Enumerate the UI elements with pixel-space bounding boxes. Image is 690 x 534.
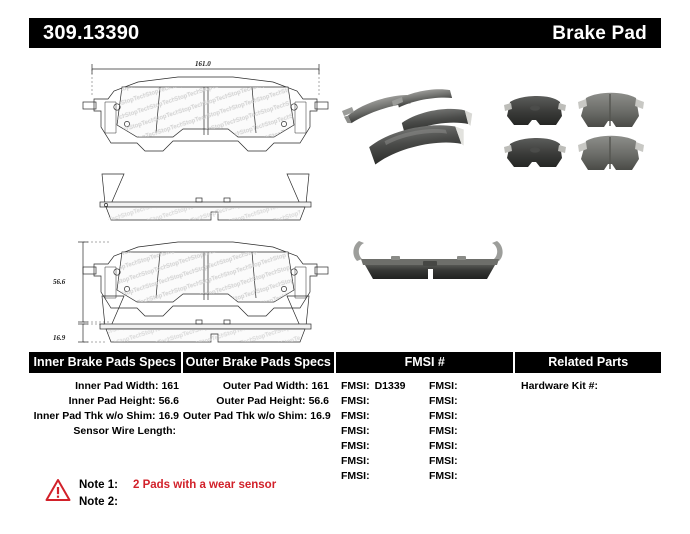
spec-table: Inner Brake Pads Specs Outer Brake Pads … [29, 352, 661, 473]
dimension-thickness-label: 16.9 [53, 334, 66, 342]
spec-row: Outer Pad Height:56.6 [183, 394, 335, 409]
fmsi-label: FMSI: [429, 440, 458, 452]
fmsi-cell: FMSI: [425, 379, 513, 394]
fmsi-cell: FMSI: [337, 469, 425, 484]
fmsi-value [370, 395, 375, 407]
spec-label: Inner Pad Width: [75, 380, 158, 392]
fmsi-value: D1339 [370, 380, 406, 392]
fmsi-label: FMSI: [429, 425, 458, 437]
fmsi-label: FMSI: [341, 440, 370, 452]
spec-value: 16.9 [156, 410, 179, 422]
fmsi-cell: FMSI: [337, 394, 425, 409]
fmsi-cell: FMSI: [337, 439, 425, 454]
spec-label: Inner Pad Height: [69, 395, 156, 407]
header-fmsi: FMSI # [336, 352, 513, 373]
fmsi-label: FMSI: [341, 410, 370, 422]
spec-value: 16.9 [307, 410, 330, 422]
spec-label: Sensor Wire Length: [73, 425, 176, 437]
fmsi-cell: FMSI: [425, 394, 513, 409]
fmsi-row: FMSI: FMSI: [337, 394, 515, 409]
fmsi-cell: FMSI: [425, 454, 513, 469]
fmsi-label: FMSI: [341, 395, 370, 407]
spec-table-body: Inner Pad Width:161 Inner Pad Height:56.… [29, 373, 661, 473]
notes-section: Note 1: 2 Pads with a wear sensor Note 2… [45, 476, 276, 511]
fmsi-label: FMSI: [341, 455, 370, 467]
inner-specs-column: Inner Pad Width:161 Inner Pad Height:56.… [29, 373, 181, 439]
note-text: 2 Pads with a wear sensor [129, 477, 276, 494]
fmsi-row: FMSI: FMSI: [337, 424, 515, 439]
header-related-parts: Related Parts [515, 352, 661, 373]
spec-row: Outer Pad Width:161 [183, 373, 335, 394]
spec-row: Inner Pad Thk w/o Shim:16.9 [29, 409, 181, 424]
fmsi-value [458, 470, 463, 482]
spec-label: Outer Pad Height: [216, 395, 305, 407]
fmsi-row: FMSI: FMSI: [337, 439, 515, 454]
dimension-width-label: 161.0 [195, 60, 211, 68]
spec-value: 161 [158, 380, 179, 392]
related-part-row: Hardware Kit #: [517, 373, 663, 394]
fmsi-cell: FMSI:D1339 [337, 379, 425, 394]
brake-pad-set-angled-photo [340, 83, 490, 178]
dimension-height-label: 56.6 [53, 278, 66, 286]
fmsi-label: FMSI: [341, 470, 370, 482]
fmsi-value [370, 455, 375, 467]
spec-row: Inner Pad Width:161 [29, 373, 181, 394]
fmsi-cell: FMSI: [425, 439, 513, 454]
fmsi-label: FMSI: [429, 410, 458, 422]
spec-row: Inner Pad Height:56.6 [29, 394, 181, 409]
note-label: Note 2: [79, 494, 129, 511]
fmsi-column: FMSI:D1339 FMSI: FMSI: FMSI: FMSI: FMSI:… [337, 373, 515, 484]
spec-row: Sensor Wire Length: [29, 424, 181, 439]
fmsi-label: FMSI: [429, 455, 458, 467]
front-pad-face-view-top: StopTech 161.0 [78, 55, 333, 170]
fmsi-value [458, 380, 463, 392]
warning-triangle-icon [45, 477, 71, 503]
spec-table-header-row: Inner Brake Pads Specs Outer Brake Pads … [29, 352, 661, 373]
part-number: 309.13390 [43, 23, 139, 43]
spec-value: 56.6 [306, 395, 329, 407]
fmsi-value [458, 440, 463, 452]
brake-pad-edge-profile-photo [345, 235, 515, 287]
fmsi-value [370, 425, 375, 437]
header-bar: 309.13390 Brake Pad [29, 18, 661, 48]
fmsi-row: FMSI:D1339 FMSI: [337, 379, 515, 394]
fmsi-cell: FMSI: [425, 424, 513, 439]
fmsi-row: FMSI: FMSI: [337, 469, 515, 484]
front-pad-edge-view-bottom: 16.9 [45, 290, 333, 360]
fmsi-value [370, 470, 375, 482]
related-parts-column: Hardware Kit #: [517, 373, 663, 394]
fmsi-value [458, 410, 463, 422]
fmsi-value [458, 395, 463, 407]
brake-pad-set-flat-photo [500, 88, 645, 178]
fmsi-label: FMSI: [341, 425, 370, 437]
fmsi-grid: FMSI:D1339 FMSI: FMSI: FMSI: FMSI: FMSI:… [337, 373, 515, 484]
note-row: Note 1: 2 Pads with a wear sensor [79, 477, 276, 494]
drawing-area: StopTech 161.0 [0, 50, 690, 345]
fmsi-label: FMSI: [341, 380, 370, 392]
note-label: Note 1: [79, 477, 129, 494]
spec-value: 161 [308, 380, 329, 392]
header-outer-specs: Outer Brake Pads Specs [183, 352, 335, 373]
fmsi-label: FMSI: [429, 380, 458, 392]
fmsi-value [370, 440, 375, 452]
note-row: Note 2: [79, 494, 276, 511]
fmsi-row: FMSI: FMSI: [337, 454, 515, 469]
fmsi-cell: FMSI: [337, 424, 425, 439]
spec-value: 56.6 [156, 395, 179, 407]
header-inner-specs: Inner Brake Pads Specs [29, 352, 181, 373]
fmsi-value [370, 410, 375, 422]
fmsi-cell: FMSI: [337, 454, 425, 469]
spec-label: Inner Pad Thk w/o Shim: [34, 410, 156, 422]
fmsi-value [458, 455, 463, 467]
fmsi-value [458, 425, 463, 437]
fmsi-cell: FMSI: [337, 409, 425, 424]
fmsi-cell: FMSI: [425, 469, 513, 484]
fmsi-label: FMSI: [429, 395, 458, 407]
front-pad-edge-view-top [78, 168, 333, 230]
spec-label: Outer Pad Width: [223, 380, 309, 392]
related-part-label: Hardware Kit #: [521, 380, 598, 392]
spec-value [176, 425, 179, 437]
fmsi-cell: FMSI: [425, 409, 513, 424]
outer-specs-column: Outer Pad Width:161 Outer Pad Height:56.… [183, 373, 335, 424]
fmsi-row: FMSI: FMSI: [337, 409, 515, 424]
fmsi-label: FMSI: [429, 470, 458, 482]
page-title: Brake Pad [552, 24, 647, 43]
note-lines: Note 1: 2 Pads with a wear sensor Note 2… [79, 476, 276, 511]
spec-row: Outer Pad Thk w/o Shim:16.9 [183, 409, 335, 424]
spec-label: Outer Pad Thk w/o Shim: [183, 410, 307, 422]
